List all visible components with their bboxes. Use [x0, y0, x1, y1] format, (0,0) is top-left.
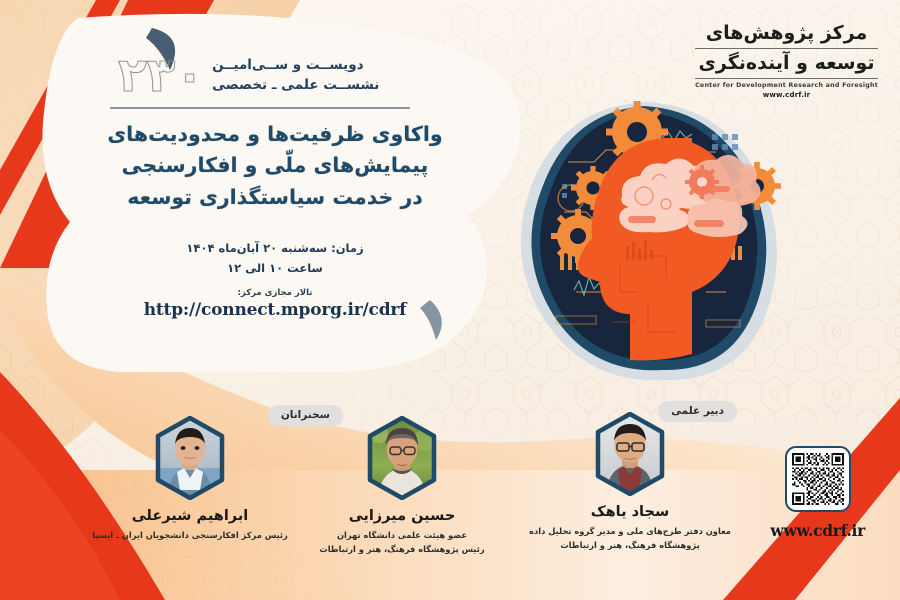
person-card: ابراهیم شیرعلی رئیس مرکز افکارسنجی دانشج… [85, 416, 295, 543]
event-date: زمان: سه‌شنبه ۲۰ آبان‌ماه ۱۴۰۴ [100, 238, 450, 258]
person-name: ابراهیم شیرعلی [85, 508, 295, 525]
person-role-line1: رئیس مرکز افکارسنجی دانشجویان ایران ـ ای… [85, 529, 295, 543]
divider [110, 107, 410, 109]
title-line-2: پیمایش‌های ملّی و افکارسنجی [100, 150, 450, 182]
session-text: دویســت و ســی‌امیــن نشســت علمی ـ تخصص… [212, 56, 379, 95]
event-details: زمان: سه‌شنبه ۲۰ آبان‌ماه ۱۴۰۴ ساعت ۱۰ ا… [100, 238, 450, 320]
qr-section: www.cdrf.ir [770, 446, 865, 540]
qr-website-label: www.cdrf.ir [770, 521, 865, 540]
page-title: واکاوی ظرفیت‌ها و محدودیت‌های پیمایش‌های… [100, 119, 450, 214]
venue-url-link[interactable]: http://connect.mporg.ir/cdrf [100, 300, 450, 320]
venue-label: تالار مجازی مرکز: [100, 288, 450, 298]
session-header: دویســت و ســی‌امیــن نشســت علمی ـ تخصص… [100, 52, 450, 99]
qr-code[interactable] [785, 446, 851, 512]
avatar [593, 412, 667, 496]
person-role-line2: رئیس پژوهشگاه فرهنگ، هنر و ارتباطات [297, 543, 507, 557]
org-name-english: Center for Development Research and Fore… [695, 82, 878, 89]
people-section: سخنرانان دبیر علمی [0, 398, 900, 598]
headline-area: دویســت و ســی‌امیــن نشســت علمی ـ تخصص… [100, 52, 450, 320]
event-time: ساعت ۱۰ الی ۱۲ [100, 258, 450, 278]
person-role-line2: پژوهشگاه فرهنگ، هنر و ارتباطات [525, 539, 735, 553]
person-card: حسین میرزایی عضو هیئت علمی دانشگاه تهران… [297, 416, 507, 557]
avatar [153, 416, 227, 500]
person-name: حسین میرزایی [297, 508, 507, 525]
org-website: www.cdrf.ir [695, 91, 878, 99]
person-role-line1: عضو هیئت علمی دانشگاه تهران [297, 529, 507, 543]
event-poster: مرکز پژوهش‌های توسعه و آینده‌نگری Center… [0, 0, 900, 600]
avatar [365, 416, 439, 500]
session-number: ۲۳۰ [118, 52, 204, 99]
person-name: سجاد یاهک [525, 504, 735, 521]
title-line-1: واکاوی ظرفیت‌ها و محدودیت‌های [100, 119, 450, 151]
org-name-line2: توسعه و آینده‌نگری [695, 52, 878, 79]
title-line-3: در خدمت سیاستگذاری توسعه [100, 182, 450, 214]
session-ordinal: دویســت و ســی‌امیــن [212, 56, 379, 76]
person-card: سجاد یاهک معاون دفتر طرح‌های ملی و مدیر … [525, 412, 735, 553]
session-type: نشســت علمی ـ تخصصی [212, 76, 379, 96]
org-name-line1: مرکز پژوهش‌های [695, 22, 878, 49]
organization-logo: مرکز پژوهش‌های توسعه و آینده‌نگری Center… [695, 22, 878, 99]
person-role-line1: معاون دفتر طرح‌های ملی و مدیر گروه تحلیل… [525, 525, 735, 539]
